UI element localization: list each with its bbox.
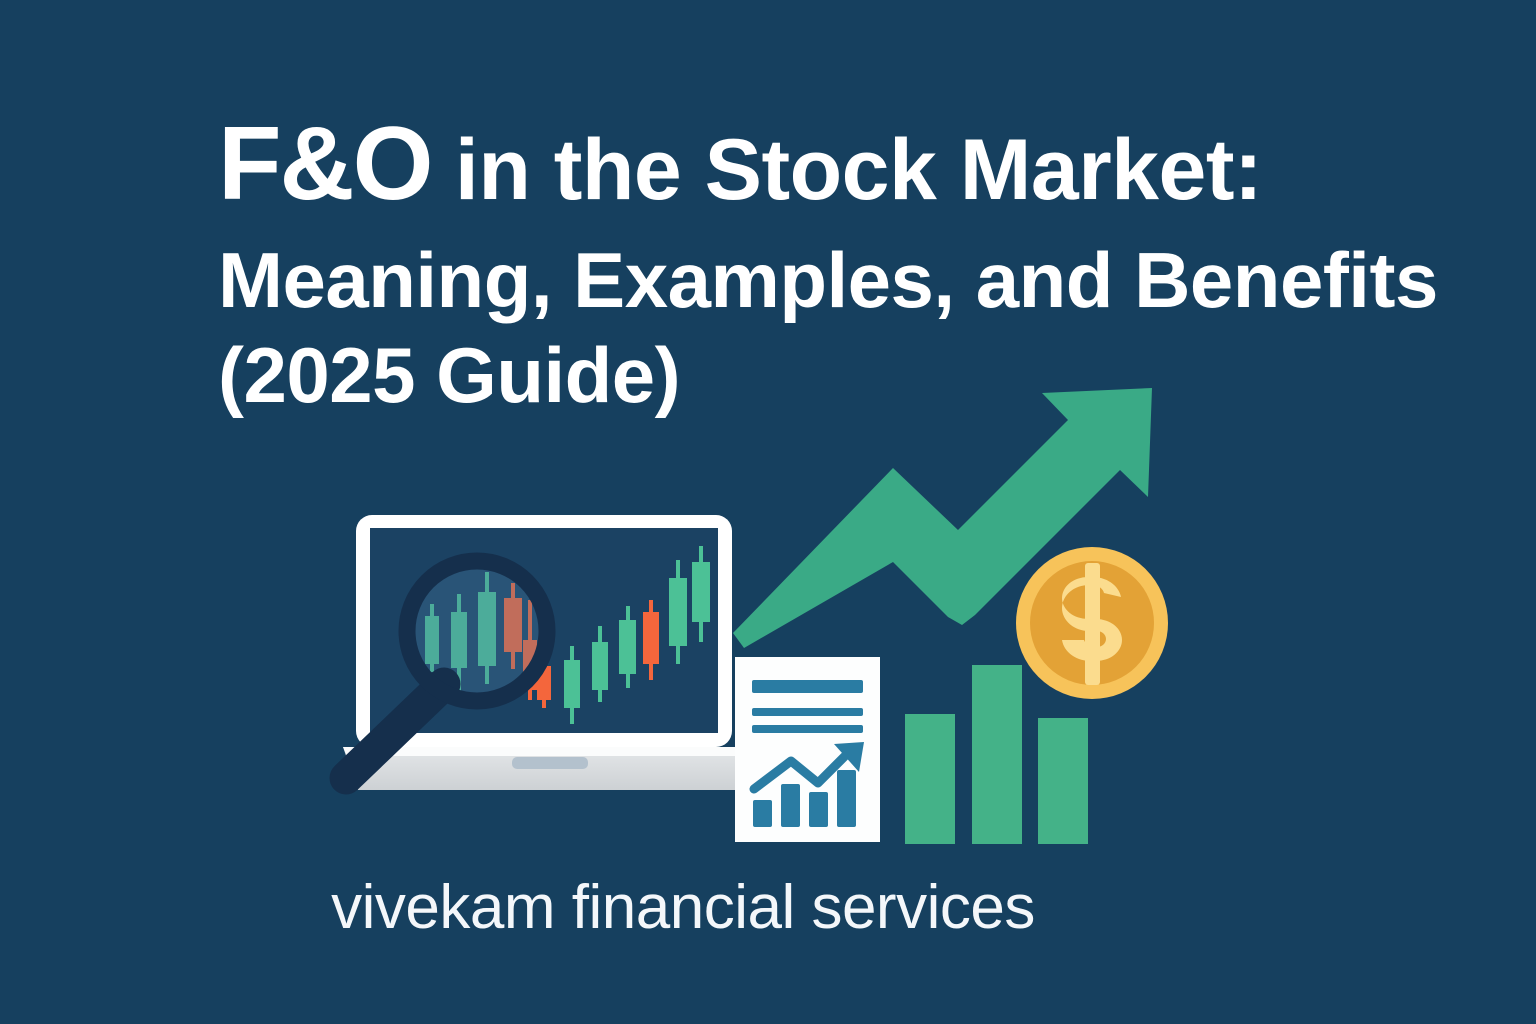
doc-bar-4 [837,770,856,827]
title-line-1: F&O in the Stock Market: [218,104,1368,225]
title-block: F&O in the Stock Market: Meaning, Exampl… [218,104,1368,423]
document-text-line-1 [752,680,863,693]
bar-3 [1038,718,1088,844]
laptop-touchpad [512,757,588,769]
bar-2 [972,665,1022,844]
poster-canvas: F&O in the Stock Market: Meaning, Exampl… [0,0,1536,1024]
doc-bar-2 [781,784,800,827]
laptop-base-top-edge [343,747,749,756]
title-line-1-rest: in the Stock Market: [432,122,1263,218]
brand-footer: vivekam financial services [0,872,1536,943]
bar-1 [905,714,955,844]
doc-bar-1 [753,800,772,827]
title-line-2: Meaning, Examples, and Benefits [218,233,1368,328]
doc-bar-3 [809,792,828,827]
document-text-line-2 [752,708,863,716]
report-document [735,657,880,842]
title-line-3: (2025 Guide) [218,328,1368,423]
title-brand: F&O [218,106,432,222]
document-text-line-3 [752,725,863,733]
dollar-coin [1016,547,1168,699]
